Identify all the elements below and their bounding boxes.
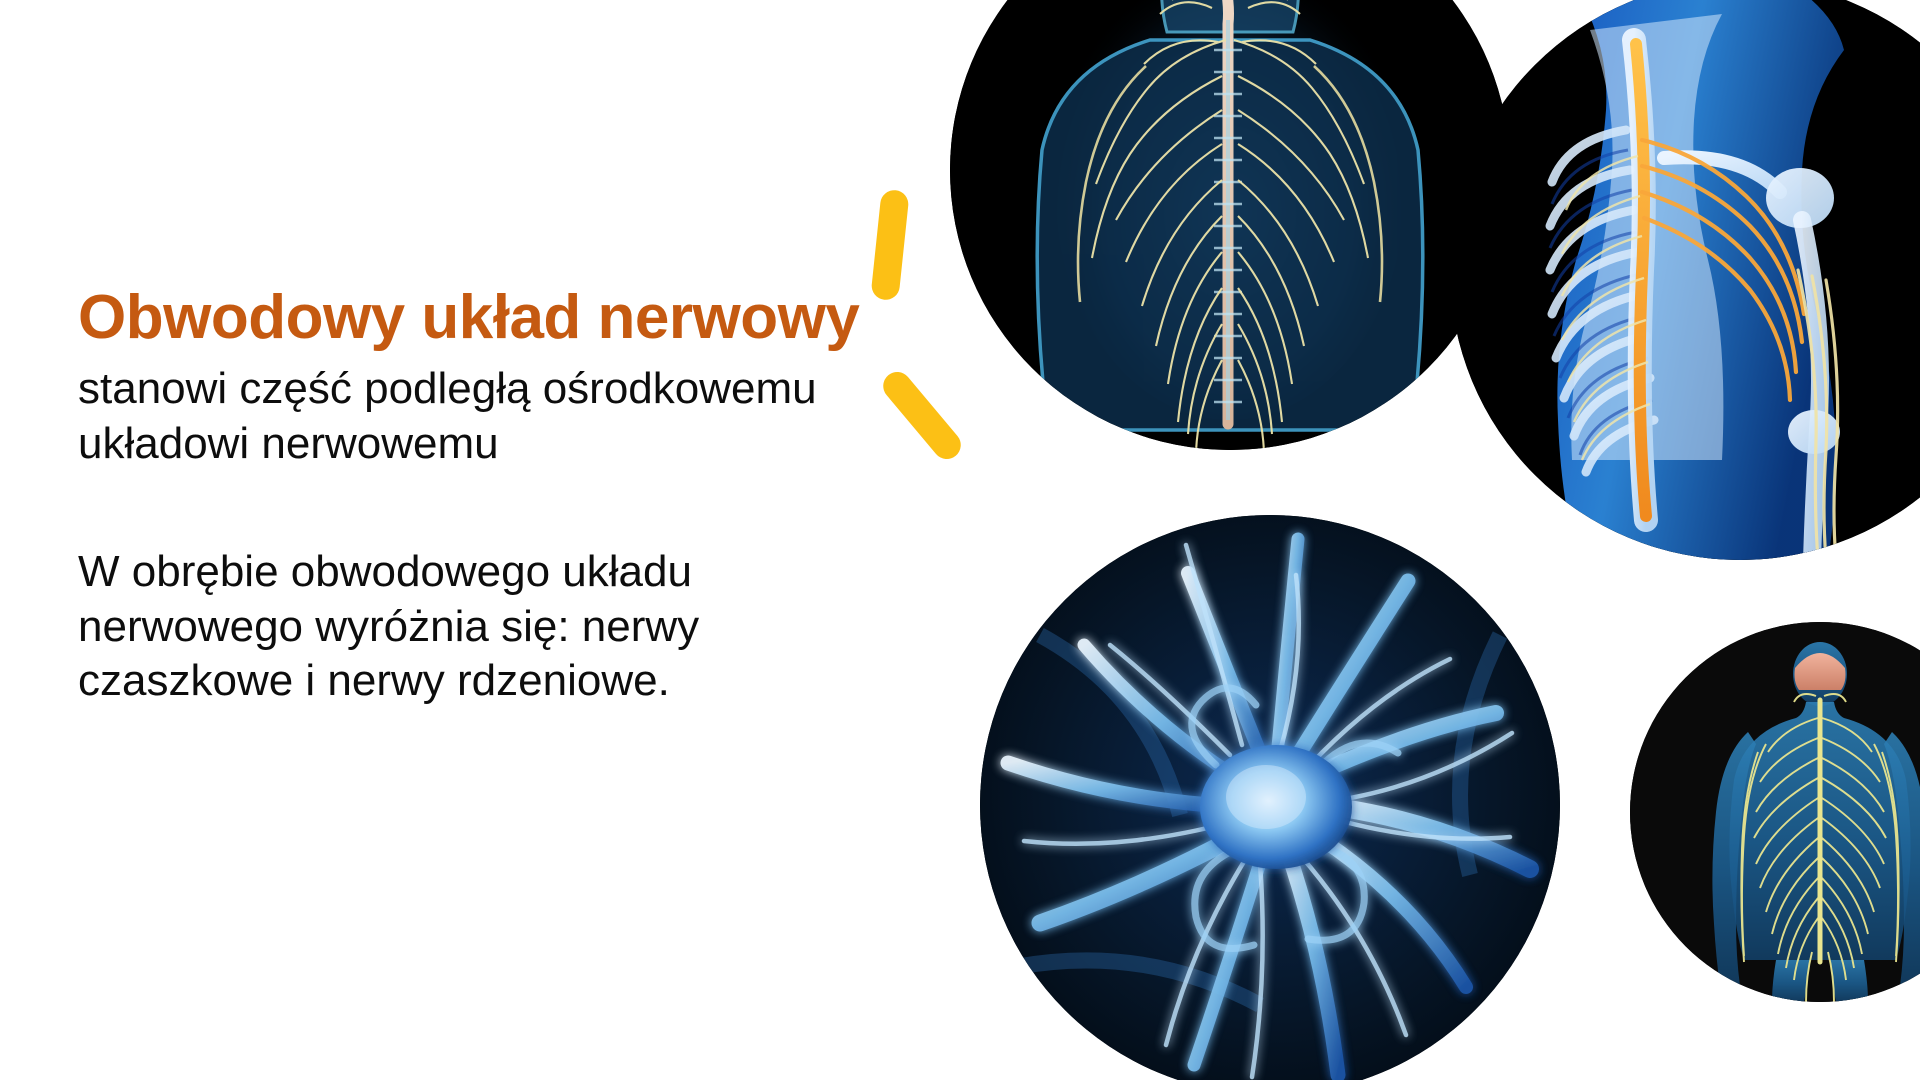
spine-nerves-photo	[950, 0, 1510, 450]
yellow-dash-accent-1	[870, 189, 909, 301]
shoulder-nerves-photo	[1450, 0, 1920, 560]
page-title: Obwodowy układ nerwowy	[78, 285, 898, 352]
slide-canvas: Obwodowy układ nerwowy stanowi część pod…	[0, 0, 1920, 1080]
body-paragraph-2: W obrębie obwodowego układu nerwowego wy…	[78, 545, 898, 709]
neuron-photo	[980, 515, 1560, 1080]
text-column: Obwodowy układ nerwowy stanowi część pod…	[78, 285, 898, 709]
body-paragraph-1: stanowi część podległą ośrodkowemu układ…	[78, 362, 898, 471]
full-body-nerves-photo	[1630, 622, 1920, 1002]
